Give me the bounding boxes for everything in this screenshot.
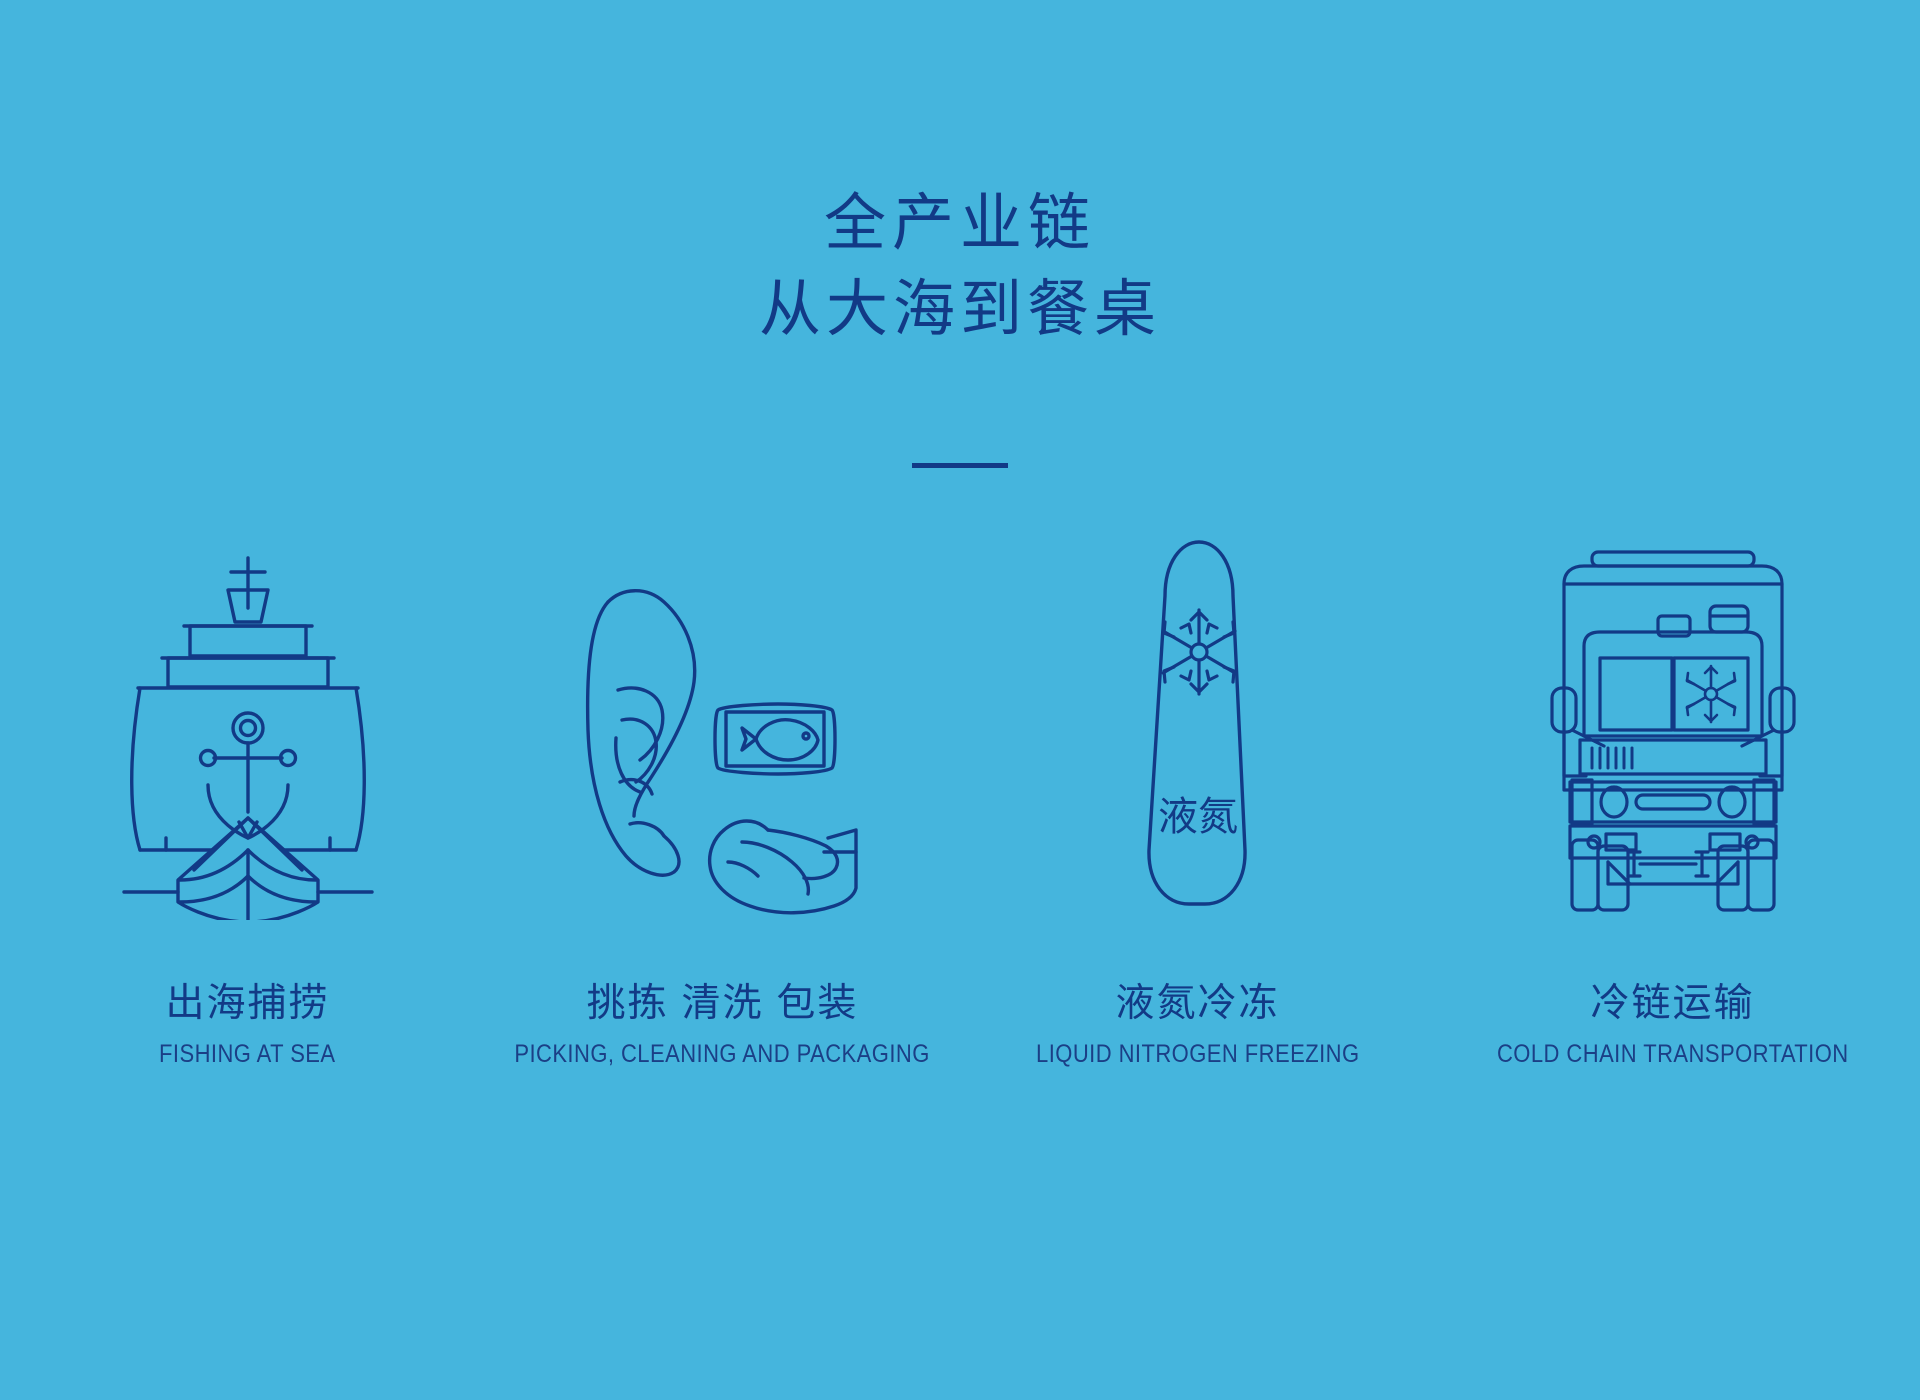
- step-icon-box: [118, 520, 378, 920]
- page-title-block: 全产业链 从大海到餐桌: [0, 182, 1920, 353]
- step-icon-box: [578, 520, 868, 920]
- title-divider: [912, 463, 1008, 468]
- step-label-cn: 冷链运输: [1473, 980, 1873, 1029]
- step-icon-box: 液氮: [1133, 520, 1263, 920]
- step-label-cn: 出海捕捞: [147, 980, 348, 1029]
- refrigerated-truck-icon: [1542, 540, 1804, 920]
- tank-label: 液氮: [1158, 795, 1238, 839]
- hands-fish-package-icon: [578, 580, 868, 920]
- infographic-page: 全产业链 从大海到餐桌: [0, 0, 1920, 1400]
- step-labels: 出海捕捞 FISHING AT SEA: [147, 980, 348, 1069]
- step-icon-box: [1542, 520, 1804, 920]
- title-divider-wrap: [0, 455, 1920, 473]
- process-steps-row: 出海捕捞 FISHING AT SEA: [0, 520, 1920, 1069]
- step-label-en: LIQUID NITROGEN FREEZING: [1036, 1040, 1359, 1069]
- snowflake-icon: [1687, 666, 1735, 722]
- step-labels: 挑拣 清洗 包装 PICKING, CLEANING AND PACKAGING: [486, 980, 958, 1069]
- step-label-en: FISHING AT SEA: [159, 1040, 336, 1069]
- step-labels: 冷链运输 COLD CHAIN TRANSPORTATION: [1473, 980, 1873, 1069]
- step-labels: 液氮冷冻 LIQUID NITROGEN FREEZING: [1014, 980, 1382, 1069]
- page-title-line-1: 全产业链: [0, 182, 1920, 268]
- page-title-line-2: 从大海到餐桌: [0, 268, 1920, 354]
- step-cold-chain-transportation[interactable]: 冷链运输 COLD CHAIN TRANSPORTATION: [1435, 520, 1910, 1069]
- step-label-cn: 液氮冷冻: [1014, 980, 1382, 1029]
- snowflake-icon: [1163, 610, 1235, 694]
- step-label-cn: 挑拣 清洗 包装: [486, 980, 958, 1029]
- liquid-nitrogen-tank-icon: 液氮: [1133, 530, 1263, 920]
- fishing-boat-anchor-icon: [118, 550, 378, 920]
- step-picking-cleaning-packaging[interactable]: 挑拣 清洗 包装 PICKING, CLEANING AND PACKAGING: [485, 520, 960, 1069]
- step-liquid-nitrogen-freezing[interactable]: 液氮 液氮冷冻 LIQUID NITROGEN FREEZING: [960, 520, 1435, 1069]
- step-label-en: PICKING, CLEANING AND PACKAGING: [515, 1040, 930, 1069]
- step-label-en: COLD CHAIN TRANSPORTATION: [1497, 1040, 1849, 1069]
- step-fishing-at-sea[interactable]: 出海捕捞 FISHING AT SEA: [10, 520, 485, 1069]
